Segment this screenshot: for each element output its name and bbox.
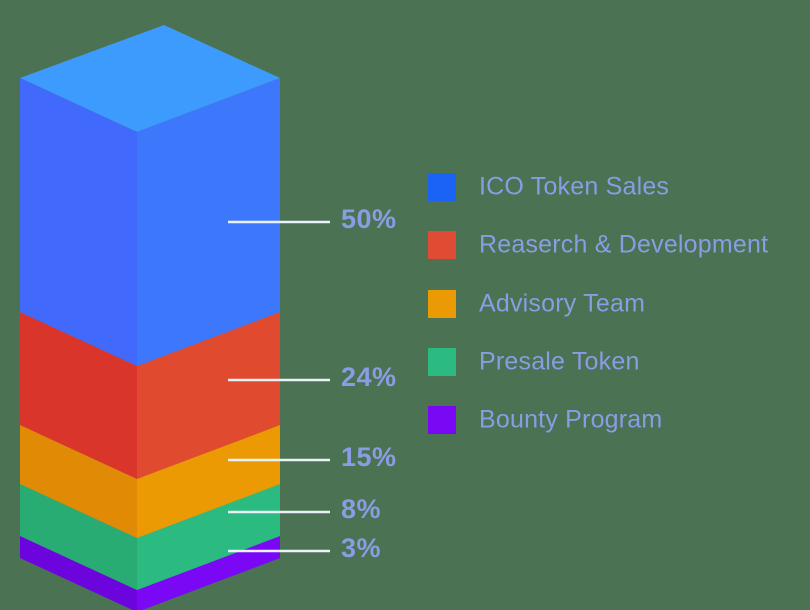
legend-swatch [428,406,456,434]
legend-item-label: Bounty Program [479,406,662,434]
legend-item-label: ICO Token Sales [479,173,669,201]
legend-item-bounty-program[interactable]: Bounty Program [428,406,662,434]
legend-swatch [428,290,456,318]
legend-swatch [428,231,456,259]
legend-item-label: Reaserch & Development [479,231,768,259]
legend: ICO Token Sales Reaserch & Development A… [428,173,768,434]
callout-percent-label: 15% [341,442,397,472]
stack-segment-ico-token-sales[interactable] [20,25,280,366]
ico-distribution-infographic: 50% 24% 15% 8% 3% ICO T [0,0,810,610]
legend-swatch [428,348,456,376]
legend-item-label: Advisory Team [479,290,645,318]
legend-item-advisory-team[interactable]: Advisory Team [428,290,645,318]
callout-percent-label: 24% [341,362,397,392]
callout-percent-label: 50% [341,204,397,234]
legend-item-label: Presale Token [479,348,640,376]
legend-item-ico-token-sales[interactable]: ICO Token Sales [428,173,669,201]
legend-item-presale-token[interactable]: Presale Token [428,348,640,376]
callout-percent-label: 8% [341,494,381,524]
callout-percent-label: 3% [341,533,381,563]
legend-swatch [428,173,456,201]
legend-item-reaserch-and-development[interactable]: Reaserch & Development [428,231,768,259]
isometric-stacked-bar-chart: 50% 24% 15% 8% 3% ICO T [0,0,810,610]
stack-segments [20,25,280,610]
